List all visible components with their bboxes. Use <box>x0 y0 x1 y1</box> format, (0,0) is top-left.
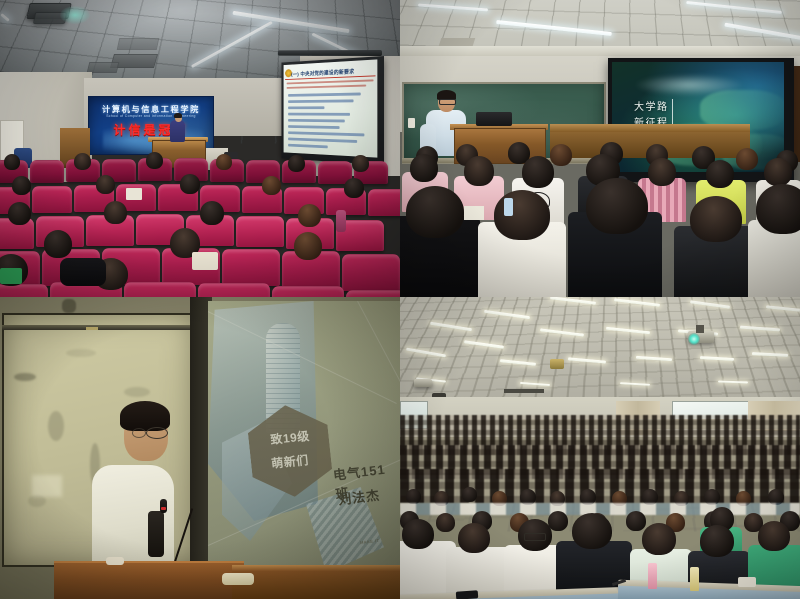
audience-head <box>96 175 115 194</box>
student-head <box>648 158 676 186</box>
paper-sheet <box>126 188 142 200</box>
water-bottle <box>690 567 699 591</box>
slide-presenter-name: 刘法杰 <box>337 485 381 509</box>
cup <box>106 557 124 565</box>
student-head <box>406 489 421 504</box>
student-speaker-glasses-left <box>132 428 146 438</box>
folded-towel <box>222 573 254 585</box>
ceiling-fixture <box>550 359 564 369</box>
student-foreground-head <box>700 525 734 557</box>
audience-head <box>294 232 322 260</box>
panel-student-speaker-podium: 致19级 萌新们 电气151班 刘法杰 MAKE IT <box>0 297 400 599</box>
slide-bullet-line <box>288 119 345 122</box>
student-head <box>706 160 734 188</box>
notebook <box>738 577 756 587</box>
notebook <box>464 206 484 220</box>
banner-english-title: School of Computer and Information Engin… <box>89 114 213 118</box>
student-foreground-head <box>586 178 648 234</box>
student-head <box>626 511 646 531</box>
audience-head <box>146 152 163 169</box>
podium <box>54 561 244 599</box>
audience-head <box>298 204 321 227</box>
student-head <box>436 513 455 532</box>
student-audience: UHUZZ <box>400 150 800 297</box>
student-foreground-head <box>458 523 490 553</box>
audience-head <box>4 154 20 170</box>
student-head <box>410 154 438 182</box>
water-bottle <box>504 198 513 216</box>
ceiling-projector <box>414 379 432 387</box>
slide-bullet-line <box>288 144 328 148</box>
audience-head <box>288 155 305 172</box>
front-desk <box>550 124 750 132</box>
student-foreground-head <box>402 519 434 549</box>
slide-divider-bar <box>672 99 673 127</box>
microphone-indicator-light <box>161 507 166 510</box>
teacher-glasses <box>439 99 456 105</box>
side-table-top <box>232 565 400 571</box>
whiteboard-clip <box>86 327 98 330</box>
water-bottle <box>648 563 657 589</box>
student-head <box>464 156 494 186</box>
wall-mark <box>62 299 76 313</box>
audience-head <box>104 201 127 224</box>
audience-head <box>74 153 91 170</box>
projection-screen-surface: (一) 中央对党的建设的新要求 <box>284 59 378 157</box>
lanyard <box>148 511 164 557</box>
student-foreground-head <box>406 186 464 238</box>
student-speaker-glasses-right <box>146 427 168 439</box>
side-table <box>232 569 400 599</box>
student-head <box>522 156 554 188</box>
student-head <box>764 158 792 186</box>
student-foreground-head <box>756 184 800 234</box>
audience-head <box>44 230 72 258</box>
banner-slogan: 计信是冠军 <box>89 121 213 138</box>
speaker-torso <box>170 120 185 142</box>
slide-bullet-line <box>287 85 367 89</box>
projection-screen-frame: (一) 中央对党的建设的新要求 <box>281 56 384 165</box>
audience-head <box>8 202 31 225</box>
audience-head <box>352 155 369 172</box>
audience-head <box>216 154 232 170</box>
slide-bullet-line <box>288 106 324 108</box>
student-head <box>462 487 477 502</box>
audience-head <box>262 176 281 195</box>
projector-lens-glow <box>688 333 700 345</box>
student-foreground-head <box>572 513 612 549</box>
slide-title-line1: 大学路 <box>634 98 669 113</box>
student-head <box>736 148 758 170</box>
slide-bullet-line <box>288 125 339 128</box>
laptop <box>476 112 512 126</box>
ceiling-vent <box>439 38 476 46</box>
student-speaker-hair <box>120 401 170 431</box>
smartphone <box>456 590 479 599</box>
slide-bullet-line <box>288 99 353 102</box>
student-foreground-head <box>642 523 676 555</box>
audience-head <box>12 176 31 195</box>
speaker-hair <box>174 113 182 118</box>
student-foreground-head <box>758 521 790 551</box>
whiteboard-highlight <box>32 475 62 497</box>
student-audience <box>400 415 800 599</box>
slide-bullet-line <box>288 131 364 136</box>
water-bottle <box>336 210 346 232</box>
slide-bullet-line <box>288 138 357 143</box>
audience-seating <box>0 158 400 297</box>
slide-bullet-line <box>288 113 350 116</box>
microphone-head <box>160 499 167 513</box>
student-foreground-head <box>494 190 550 240</box>
student-foreground-head <box>690 196 742 242</box>
student-head <box>548 511 568 531</box>
panel-classroom-orientation-talk: 大学路 新征程 新生入学教育班会 2019.09.07 <box>400 0 800 297</box>
student-head <box>550 144 572 166</box>
projector-mount <box>696 325 704 333</box>
backpack <box>60 258 106 286</box>
chalk-box <box>408 118 415 128</box>
wall-trim <box>400 46 800 56</box>
projected-slide: 致19级 萌新们 电气151班 刘法杰 MAKE IT <box>208 301 400 573</box>
photo-collage: 计算机与信息工程学院 School of Computer and Inform… <box>0 0 800 599</box>
paper-sheet <box>192 252 218 270</box>
student-glasses <box>524 533 546 541</box>
audience-head <box>344 178 364 198</box>
ceiling-rail <box>504 389 544 393</box>
panel-large-lecture-hall-audience <box>400 297 800 599</box>
panel-auditorium-party-lecture: 计算机与信息工程学院 School of Computer and Inform… <box>0 0 400 297</box>
slide-bullet-line <box>288 93 361 97</box>
screen-roller-case <box>278 50 382 56</box>
audience-head <box>200 201 224 225</box>
audience-head <box>180 174 200 194</box>
green-item <box>0 268 22 284</box>
